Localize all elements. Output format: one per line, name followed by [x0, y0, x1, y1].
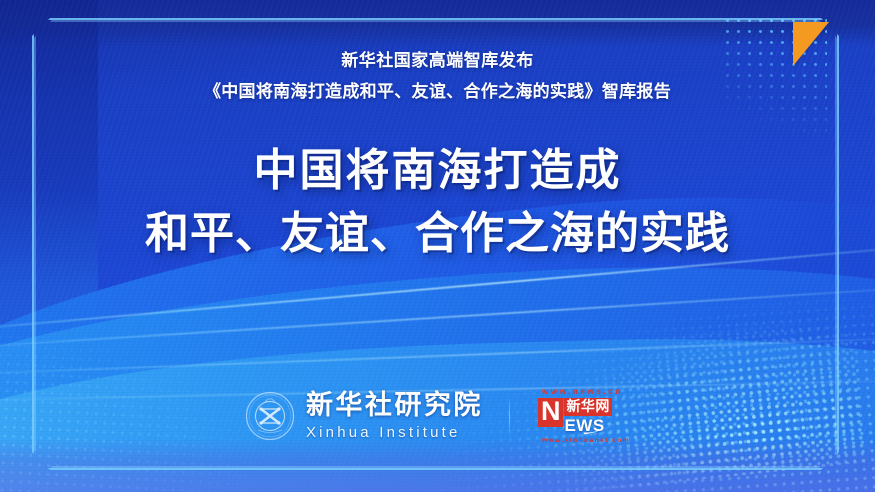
swoosh-icon	[582, 420, 620, 436]
news-name-cn: 新华网	[564, 398, 612, 416]
news-url-bottom: www.xinhuanet.com	[538, 437, 630, 444]
logo-row: 新华社研究院 Xinhua Institute www.news.cn N 新华…	[0, 387, 875, 444]
xinhua-seal-icon	[245, 391, 295, 441]
institute-text-block: 新华社研究院 Xinhua Institute	[306, 392, 483, 440]
eyebrow-line-1: 新华社国家高端智库发布	[341, 45, 534, 77]
main-title-line-2: 和平、友谊、合作之海的实践	[145, 203, 730, 265]
news-url-top: www.news.cn	[538, 387, 623, 396]
poster-canvas: 新华社国家高端智库发布 《中国将南海打造成和平、友谊、合作之海的实践》智库报告 …	[0, 0, 875, 492]
institute-name-en: Xinhua Institute	[306, 425, 483, 440]
logo-divider	[509, 395, 510, 437]
xinhua-institute-logo: 新华社研究院 Xinhua Institute	[245, 391, 483, 441]
xinhua-news-logo: www.news.cn N 新华网 EWS www.xinhuanet.com	[536, 387, 630, 444]
news-mark-letter: N	[538, 398, 564, 427]
news-mark: N 新华网 EWS	[538, 398, 612, 435]
main-title-line-1: 中国将南海打造成	[145, 140, 730, 202]
eyebrow-line-2: 《中国将南海打造成和平、友谊、合作之海的实践》智库报告	[204, 77, 671, 102]
institute-name-cn: 新华社研究院	[306, 392, 483, 419]
main-title: 中国将南海打造成 和平、友谊、合作之海的实践	[145, 140, 730, 265]
